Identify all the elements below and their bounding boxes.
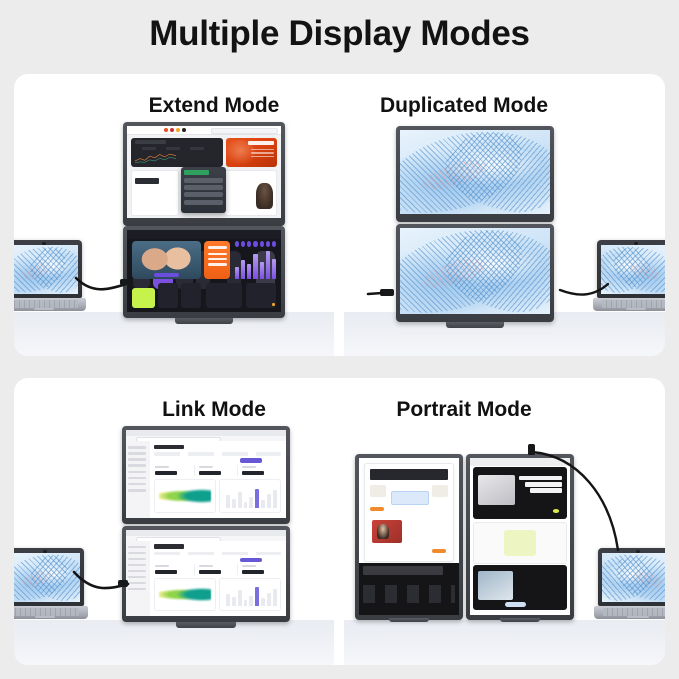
duplicated-upper-screen <box>400 130 550 214</box>
desk-surface-portrait <box>344 620 665 665</box>
extend-upper-screen <box>127 126 281 218</box>
duplicated-lower-screen <box>400 228 550 314</box>
mode-label-portrait: Portrait Mode <box>314 398 614 422</box>
desk-surface-link <box>14 620 334 665</box>
mode-label-extend: Extend Mode <box>74 94 354 118</box>
link-cable <box>72 558 134 600</box>
mode-label-duplicated: Duplicated Mode <box>314 94 614 118</box>
link-cable-plug <box>118 580 128 587</box>
portrait-monitor-left <box>355 454 463 620</box>
mode-label-link: Link Mode <box>74 398 354 422</box>
panel-bottom-modes: Link Mode Portrait Mode <box>14 378 665 665</box>
extend-lower-screen <box>127 230 281 312</box>
page-title: Multiple Display Modes <box>0 14 679 54</box>
portrait-cable-plug <box>528 444 535 455</box>
link-monitor-stack <box>122 426 290 622</box>
portrait-cable <box>514 444 634 566</box>
panel-top-modes: Extend Mode Duplicated Mode <box>14 74 665 356</box>
link-upper-screen <box>126 430 286 518</box>
duplicated-cable <box>366 284 400 304</box>
duplicated-monitor-stack <box>396 126 554 324</box>
portrait-left-screen <box>359 458 459 615</box>
display-modes-infographic: Multiple Display Modes Extend Mode Dupli… <box>0 0 679 679</box>
extend-cable-plug <box>120 279 129 285</box>
link-lower-screen <box>126 530 286 616</box>
duplicated-laptop-cable <box>556 270 610 304</box>
extend-monitor-stack <box>123 122 285 324</box>
extend-laptop <box>14 240 82 312</box>
